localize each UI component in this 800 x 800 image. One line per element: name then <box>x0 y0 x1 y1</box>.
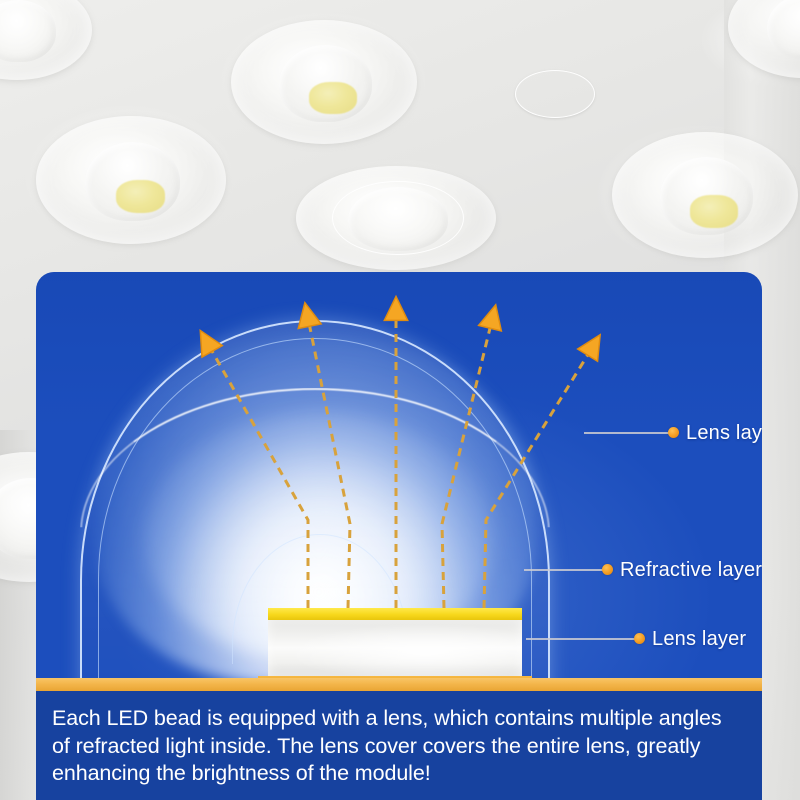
bead-phosphor-chip <box>116 180 165 213</box>
caption-panel: Each LED bead is equipped with a lens, w… <box>36 691 762 800</box>
label-lens-layer-bottom: Lens layer <box>652 628 746 651</box>
label-refractive-layer: Refractive layer <box>620 559 762 582</box>
gold-divider-bar <box>36 678 762 691</box>
leader-line-refractive-layer <box>524 569 606 571</box>
lens-bead-top-center <box>231 20 417 144</box>
leader-dot-lens-layer-bottom <box>634 633 645 644</box>
ray-1 <box>208 344 308 608</box>
leader-dot-refractive-layer <box>602 564 613 575</box>
ray-2 <box>308 318 350 608</box>
label-lens-layer-top: Lens layer <box>686 422 762 445</box>
leader-line-lens-layer-top <box>584 432 672 434</box>
bead-phosphor-chip <box>690 195 738 228</box>
lens-refraction-diagram-panel: Lens layer Refractive layer Lens layer E… <box>36 272 762 800</box>
bead-phosphor-chip <box>309 82 357 114</box>
lens-bead-top-left <box>36 116 226 244</box>
leader-dot-lens-layer-top <box>668 427 679 438</box>
bead-cup <box>348 187 448 251</box>
caption-text: Each LED bead is equipped with a lens, w… <box>52 705 744 788</box>
infographic-stage: Lens layer Refractive layer Lens layer E… <box>0 0 800 800</box>
lens-bead-center-clear <box>296 166 496 270</box>
leader-line-lens-layer-bottom <box>526 638 638 640</box>
lens-bead-right <box>612 132 798 258</box>
faint-lens-ring <box>515 70 595 118</box>
